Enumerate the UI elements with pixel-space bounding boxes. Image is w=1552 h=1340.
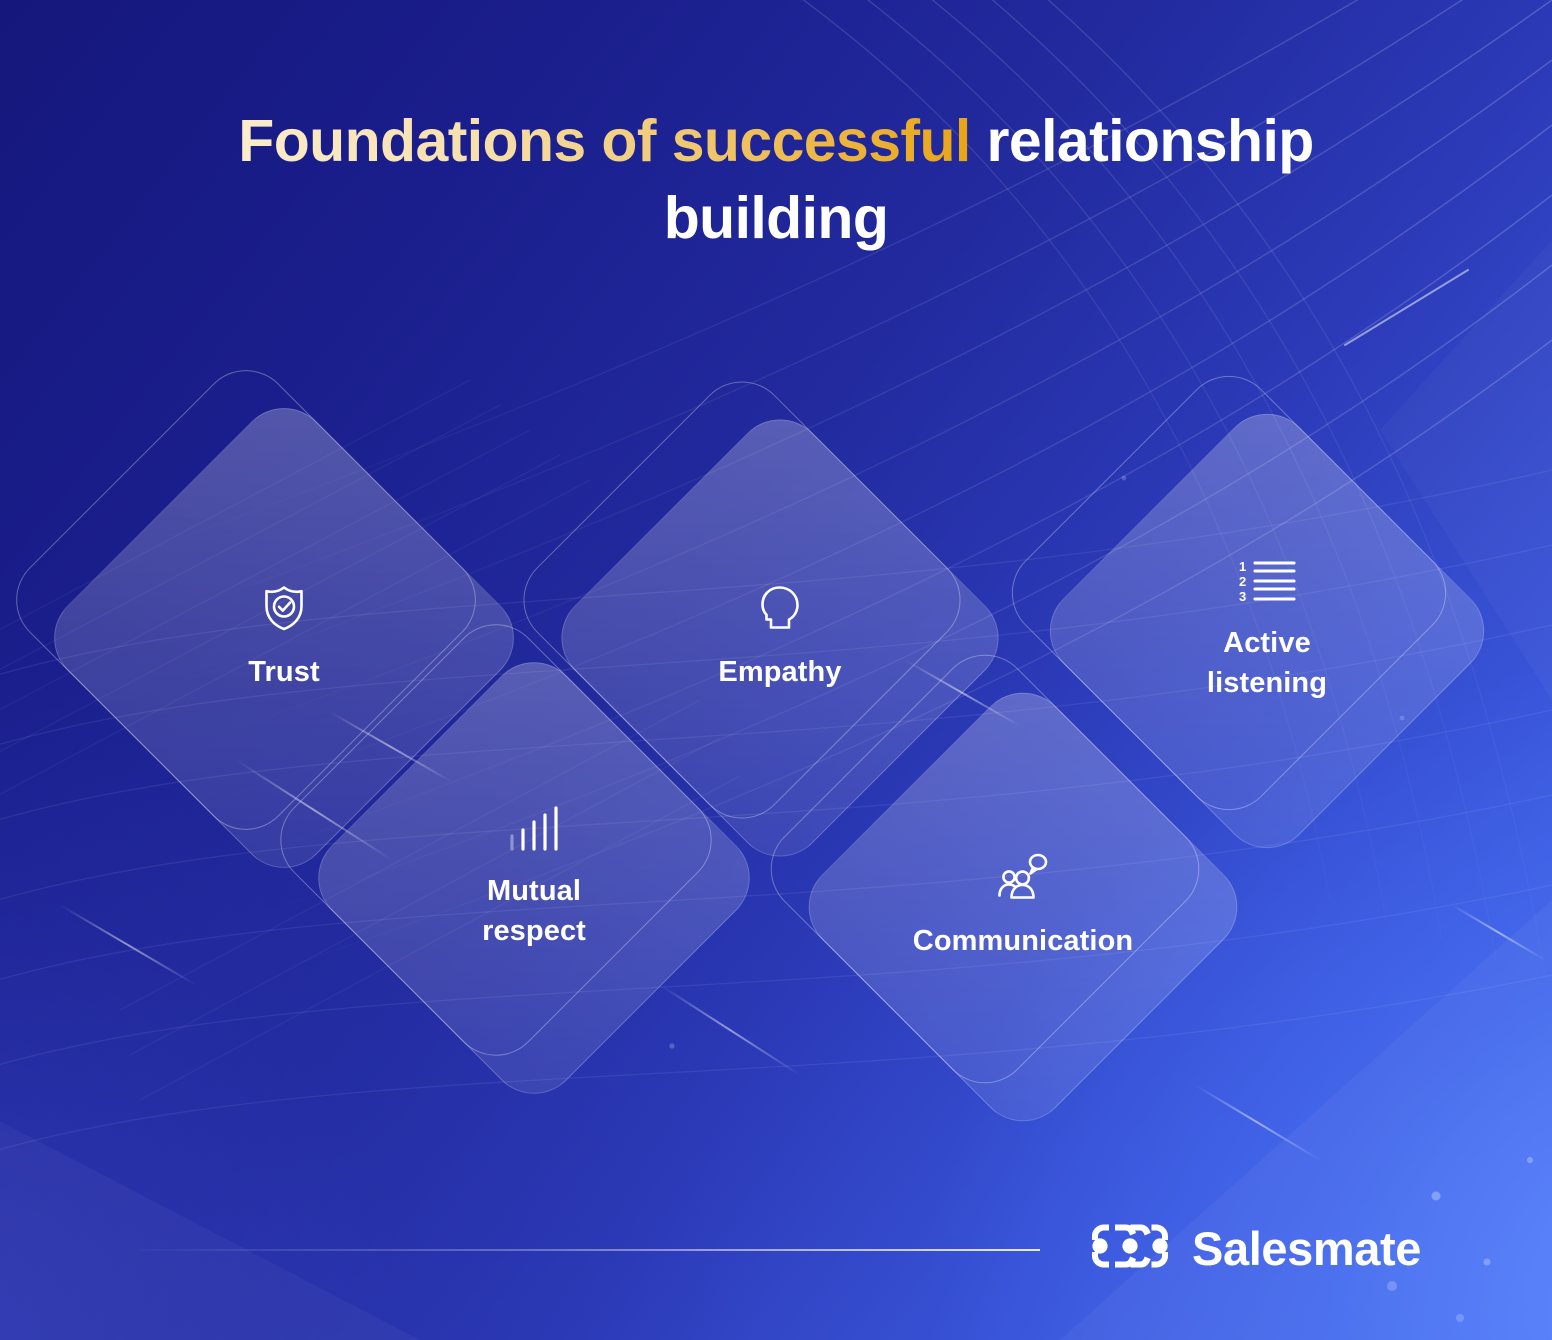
title-rest: relationship: [971, 108, 1314, 174]
card-label: Mutual respect: [482, 872, 586, 951]
shield-check-icon: [262, 584, 306, 637]
card-label: Communication: [913, 922, 1133, 961]
numbered-list-icon: 1 2 3: [1238, 559, 1296, 608]
brand-name: Salesmate: [1192, 1221, 1421, 1276]
footer-divider: [140, 1249, 1040, 1251]
people-speech-icon: [997, 853, 1049, 906]
card-label: Empathy: [718, 653, 841, 692]
infographic-canvas: Foundations of successful relationship b…: [0, 0, 1552, 1340]
bar-chart-icon: [507, 805, 561, 856]
card-label: Trust: [248, 653, 319, 692]
svg-text:2: 2: [1239, 574, 1246, 589]
card-active-listening[interactable]: 1 2 3 Active listening: [1100, 464, 1434, 798]
title-line-2: building: [60, 180, 1492, 257]
title-highlight: Foundations of successful: [238, 108, 970, 174]
head-profile-icon: [759, 584, 801, 637]
page-title: Foundations of successful relationship b…: [0, 103, 1552, 256]
card-label: Active listening: [1207, 624, 1327, 703]
brand-logo[interactable]: Salesmate: [1088, 1221, 1421, 1276]
salesmate-logo-icon: [1088, 1222, 1172, 1275]
svg-text:3: 3: [1239, 589, 1246, 603]
svg-text:1: 1: [1239, 559, 1246, 574]
